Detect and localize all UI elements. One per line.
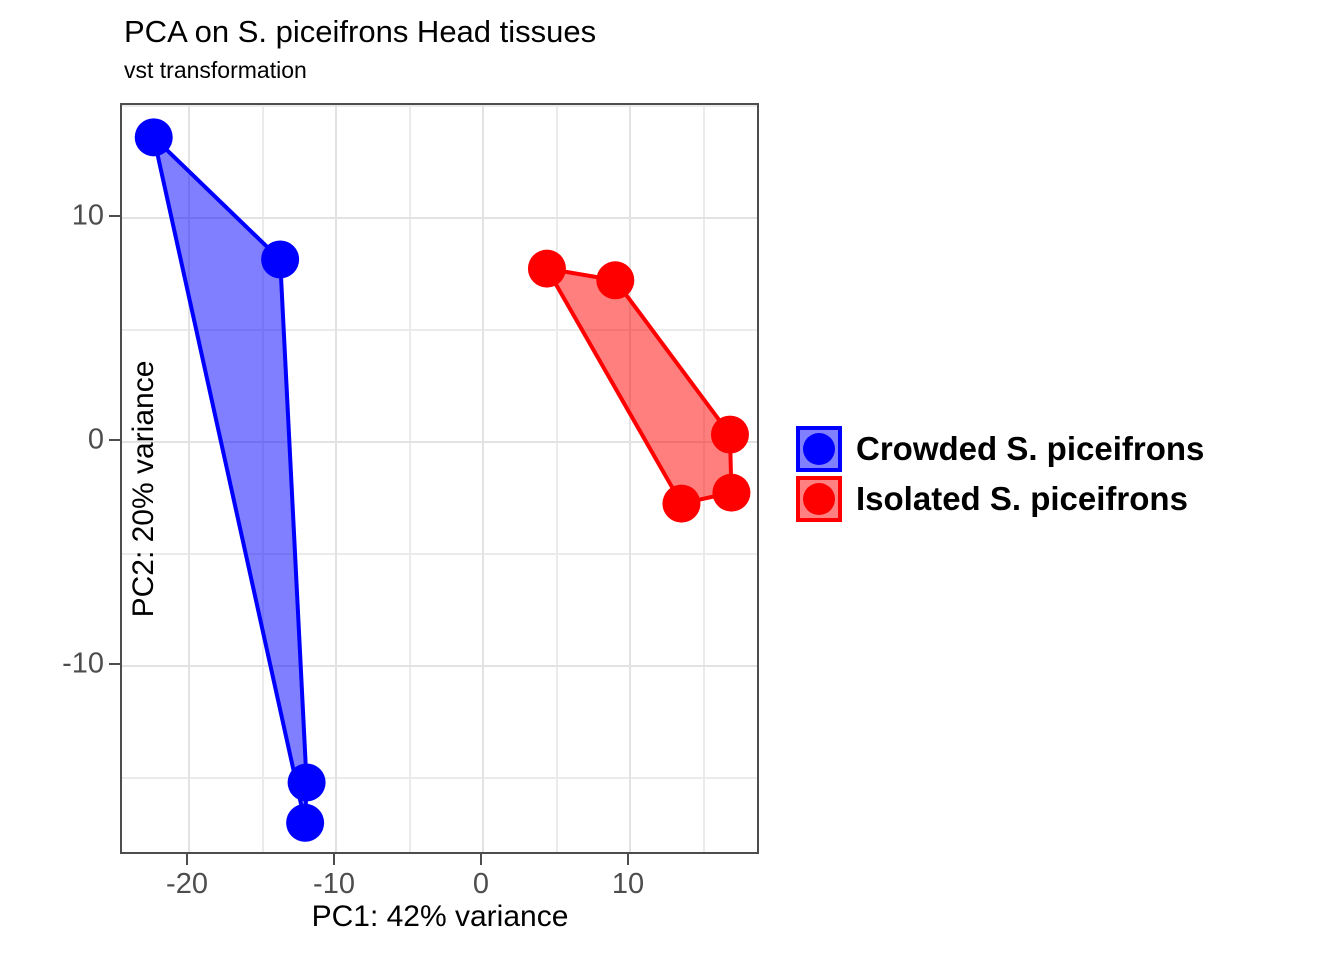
- plot-subtitle: vst transformation: [124, 56, 307, 84]
- x-tick-label-10: 10: [612, 868, 644, 901]
- x-tick-mark--10: [333, 854, 335, 865]
- x-tick-mark-0: [480, 854, 482, 865]
- y-tick-mark-10: [109, 215, 120, 217]
- y-tick-mark-0: [109, 439, 120, 441]
- data-point-s1-p4[interactable]: [662, 485, 700, 523]
- data-layer: [122, 105, 759, 854]
- y-tick-label--10: -10: [62, 648, 104, 681]
- legend-marker-circle-icon: [803, 483, 835, 515]
- legend-key-icon-1: [796, 476, 842, 522]
- legend-label-1: Isolated S. piceifrons: [856, 480, 1188, 518]
- plot-panel: [120, 103, 759, 854]
- x-tick-label--20: -20: [166, 868, 208, 901]
- data-point-s0-p1[interactable]: [261, 240, 299, 278]
- y-axis-title: PC2: 20% variance: [127, 109, 161, 869]
- data-point-s0-p3[interactable]: [286, 804, 324, 842]
- x-tick-mark-10: [627, 854, 629, 865]
- legend-item-1[interactable]: Isolated S. piceifrons: [796, 474, 1204, 524]
- legend: Crowded S. piceifronsIsolated S. piceifr…: [796, 424, 1204, 524]
- convex-hull-series-1: [547, 269, 731, 504]
- x-tick-label-0: 0: [473, 868, 489, 901]
- legend-item-0[interactable]: Crowded S. piceifrons: [796, 424, 1204, 474]
- legend-key-icon-0: [796, 426, 842, 472]
- x-axis-title: PC1: 42% variance: [0, 900, 880, 934]
- data-point-s1-p2[interactable]: [711, 416, 749, 454]
- data-point-s1-p0[interactable]: [528, 250, 566, 288]
- x-tick-label--10: -10: [313, 868, 355, 901]
- pca-plot-figure: PCA on S. piceifrons Head tissues vst tr…: [0, 0, 1344, 960]
- data-point-s0-p2[interactable]: [288, 763, 326, 801]
- convex-hull-series-0: [154, 137, 307, 822]
- y-tick-label-10: 10: [72, 200, 104, 233]
- page-title: PCA on S. piceifrons Head tissues: [124, 14, 596, 50]
- y-tick-mark--10: [109, 663, 120, 665]
- y-tick-label-0: 0: [88, 424, 104, 457]
- data-point-s1-p3[interactable]: [712, 474, 750, 512]
- legend-label-0: Crowded S. piceifrons: [856, 430, 1204, 468]
- x-tick-mark--20: [186, 854, 188, 865]
- legend-marker-circle-icon: [803, 433, 835, 465]
- data-point-s1-p1[interactable]: [596, 261, 634, 299]
